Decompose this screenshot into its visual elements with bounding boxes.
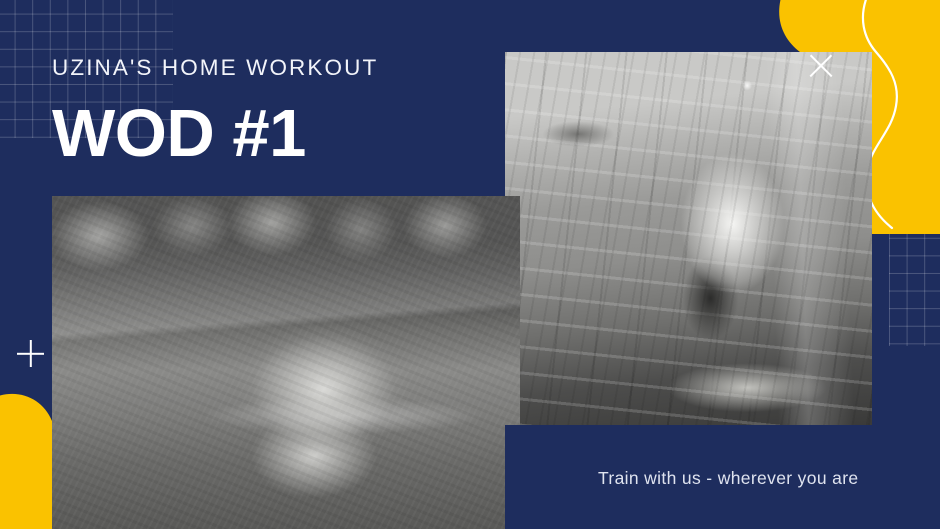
photo-athlete-stretching-image	[52, 196, 520, 529]
plus-mark-left-vertical-bar	[29, 340, 31, 367]
photo-athlete-box-plank-image	[505, 52, 872, 425]
page-title: WOD #1	[52, 100, 306, 167]
brand-eyebrow: UZINA'S HOME WORKOUT	[52, 55, 378, 81]
poster-canvas: UZINA'S HOME WORKOUT WOD #1 Train with u…	[0, 0, 940, 529]
plus-mark-left-icon	[17, 340, 44, 367]
photo-athlete-box-plank	[505, 52, 872, 425]
photo-athlete-stretching	[52, 196, 520, 529]
tagline: Train with us - wherever you are	[598, 468, 859, 489]
